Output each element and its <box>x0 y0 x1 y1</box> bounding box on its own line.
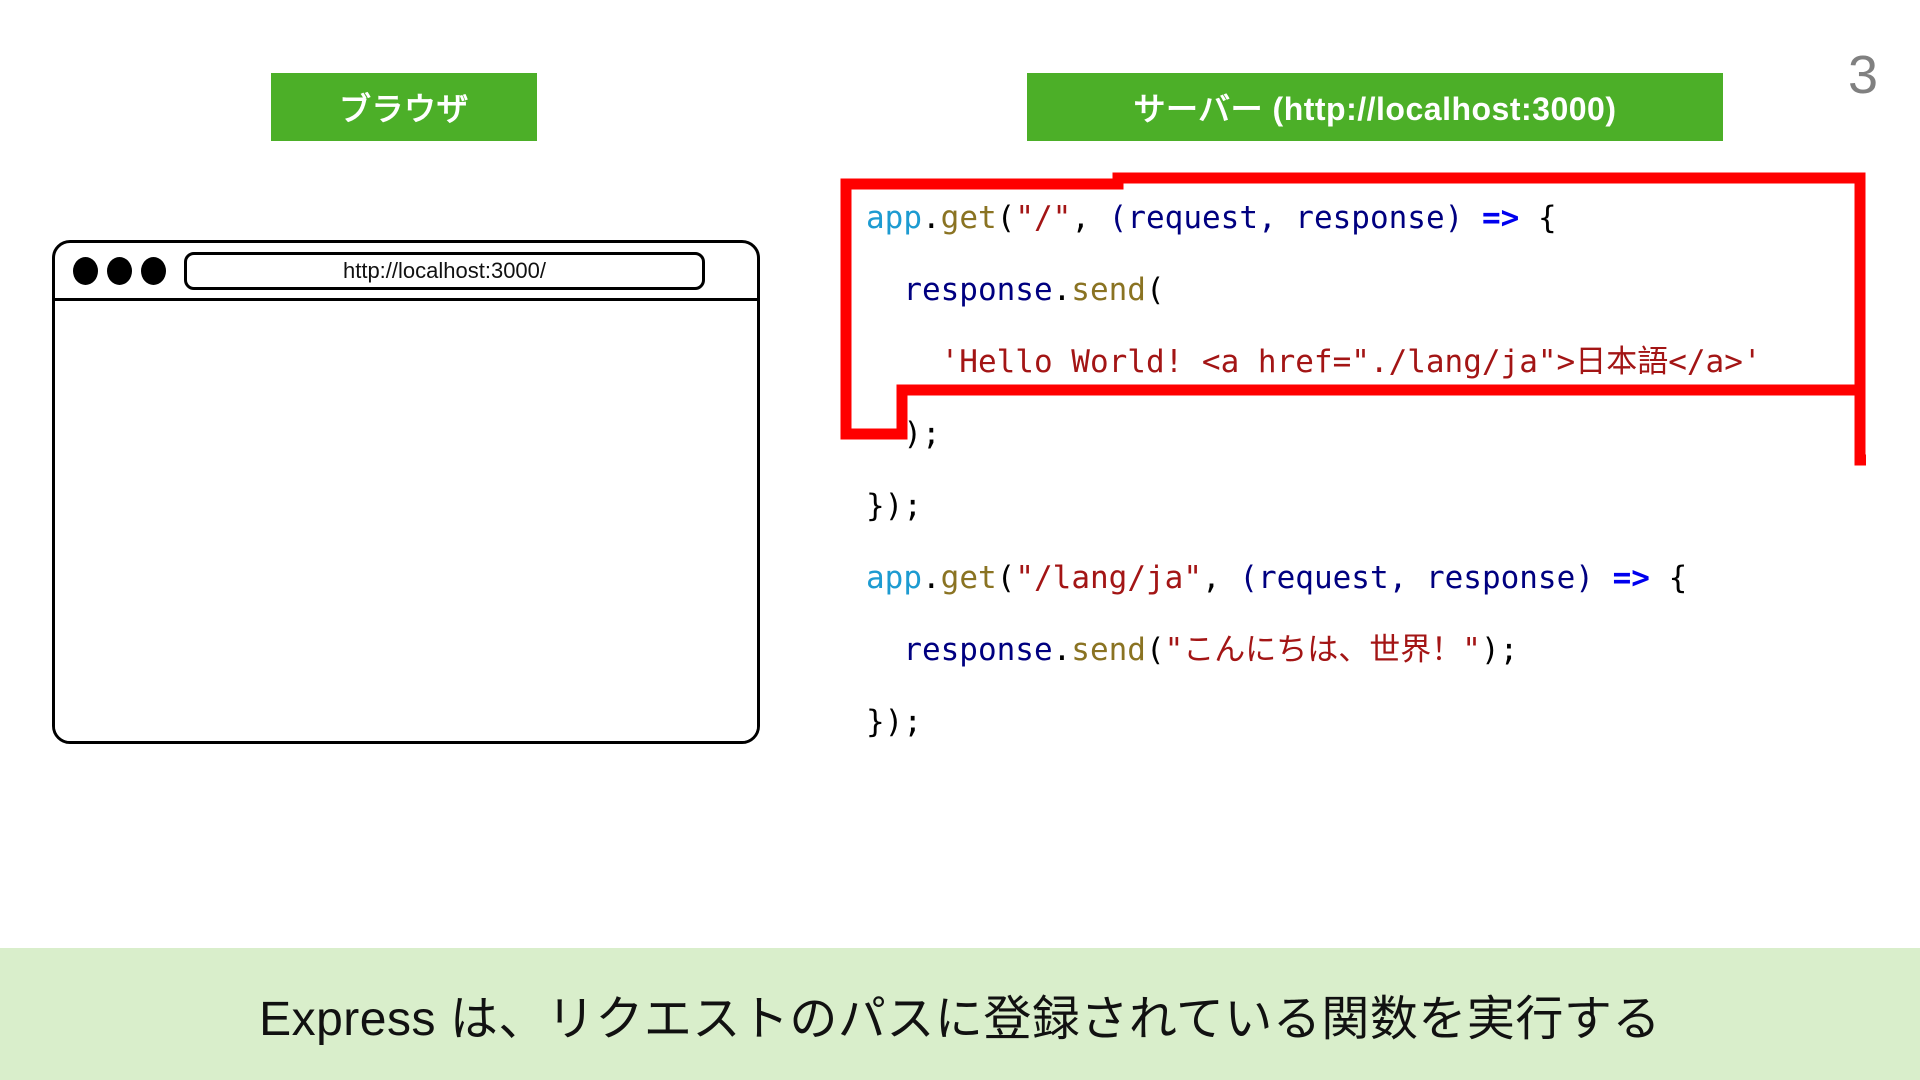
code-token: { <box>1650 560 1687 596</box>
server-panel-label: サーバー (http://localhost:3000) <box>1027 73 1723 141</box>
code-token: (request, response) <box>1109 200 1464 236</box>
close-dot-icon[interactable] <box>73 257 98 285</box>
code-token: => <box>1613 560 1650 596</box>
code-line: }); <box>866 470 1896 542</box>
code-token: { <box>1519 200 1556 236</box>
code-token: app <box>866 200 922 236</box>
code-token: send <box>1071 272 1146 308</box>
traffic-light-dots <box>73 257 166 285</box>
code-token: get <box>941 200 997 236</box>
server-code-block: app.get("/", (request, response) => { re… <box>866 182 1896 758</box>
browser-mockup: http://localhost:3000/ <box>52 240 760 744</box>
code-token: }); <box>866 488 922 524</box>
code-token: response <box>903 632 1052 668</box>
code-token: ); <box>903 416 940 452</box>
url-bar[interactable]: http://localhost:3000/ <box>184 252 705 290</box>
code-token: response <box>903 272 1052 308</box>
code-token: send <box>1071 632 1146 668</box>
code-token: get <box>941 560 997 596</box>
code-line: ); <box>866 398 1896 470</box>
maximize-dot-icon[interactable] <box>141 257 166 285</box>
footer-banner-text: Express は、リクエストのパスに登録されている関数を実行する <box>259 979 1661 1049</box>
code-token: "こんにちは、世界！" <box>1165 632 1481 668</box>
code-token: , <box>1071 200 1108 236</box>
code-indent <box>866 326 941 398</box>
code-line: app.get("/", (request, response) => { <box>866 182 1896 254</box>
code-token: "/" <box>1015 200 1071 236</box>
code-token: }); <box>866 704 922 740</box>
code-token: , <box>1202 560 1239 596</box>
code-token <box>1594 560 1613 596</box>
code-token: ( <box>997 560 1016 596</box>
browser-panel-label: ブラウザ <box>271 73 537 141</box>
page-number: 3 <box>1848 48 1878 102</box>
code-token: 'Hello World! <a href="./lang/ja">日本語</a… <box>941 344 1762 380</box>
code-token: => <box>1482 200 1519 236</box>
code-token: ); <box>1481 632 1518 668</box>
browser-viewport <box>55 301 757 741</box>
browser-chrome-bar: http://localhost:3000/ <box>55 243 757 301</box>
code-line: response.send( <box>866 254 1896 326</box>
footer-banner: Express は、リクエストのパスに登録されている関数を実行する <box>0 948 1920 1080</box>
code-token: . <box>922 560 941 596</box>
code-line: response.send("こんにちは、世界！"); <box>866 614 1896 686</box>
slide-canvas: 3 ブラウザ http://localhost:3000/ サーバー (http… <box>0 0 1920 1080</box>
code-token: ( <box>1146 632 1165 668</box>
code-line: }); <box>866 686 1896 758</box>
code-token: ( <box>1146 272 1165 308</box>
url-input-value: http://localhost:3000/ <box>343 258 546 284</box>
code-indent <box>866 398 903 470</box>
code-token: ( <box>997 200 1016 236</box>
code-indent <box>866 254 903 326</box>
code-indent <box>866 614 903 686</box>
code-token: (request, response) <box>1239 560 1594 596</box>
minimize-dot-icon[interactable] <box>107 257 132 285</box>
code-token: . <box>1053 272 1072 308</box>
code-token <box>1463 200 1482 236</box>
code-token: app <box>866 560 922 596</box>
code-token: "/lang/ja" <box>1015 560 1202 596</box>
code-line: 'Hello World! <a href="./lang/ja">日本語</a… <box>866 326 1896 398</box>
code-token: . <box>922 200 941 236</box>
code-token: . <box>1053 632 1072 668</box>
code-line: app.get("/lang/ja", (request, response) … <box>866 542 1896 614</box>
